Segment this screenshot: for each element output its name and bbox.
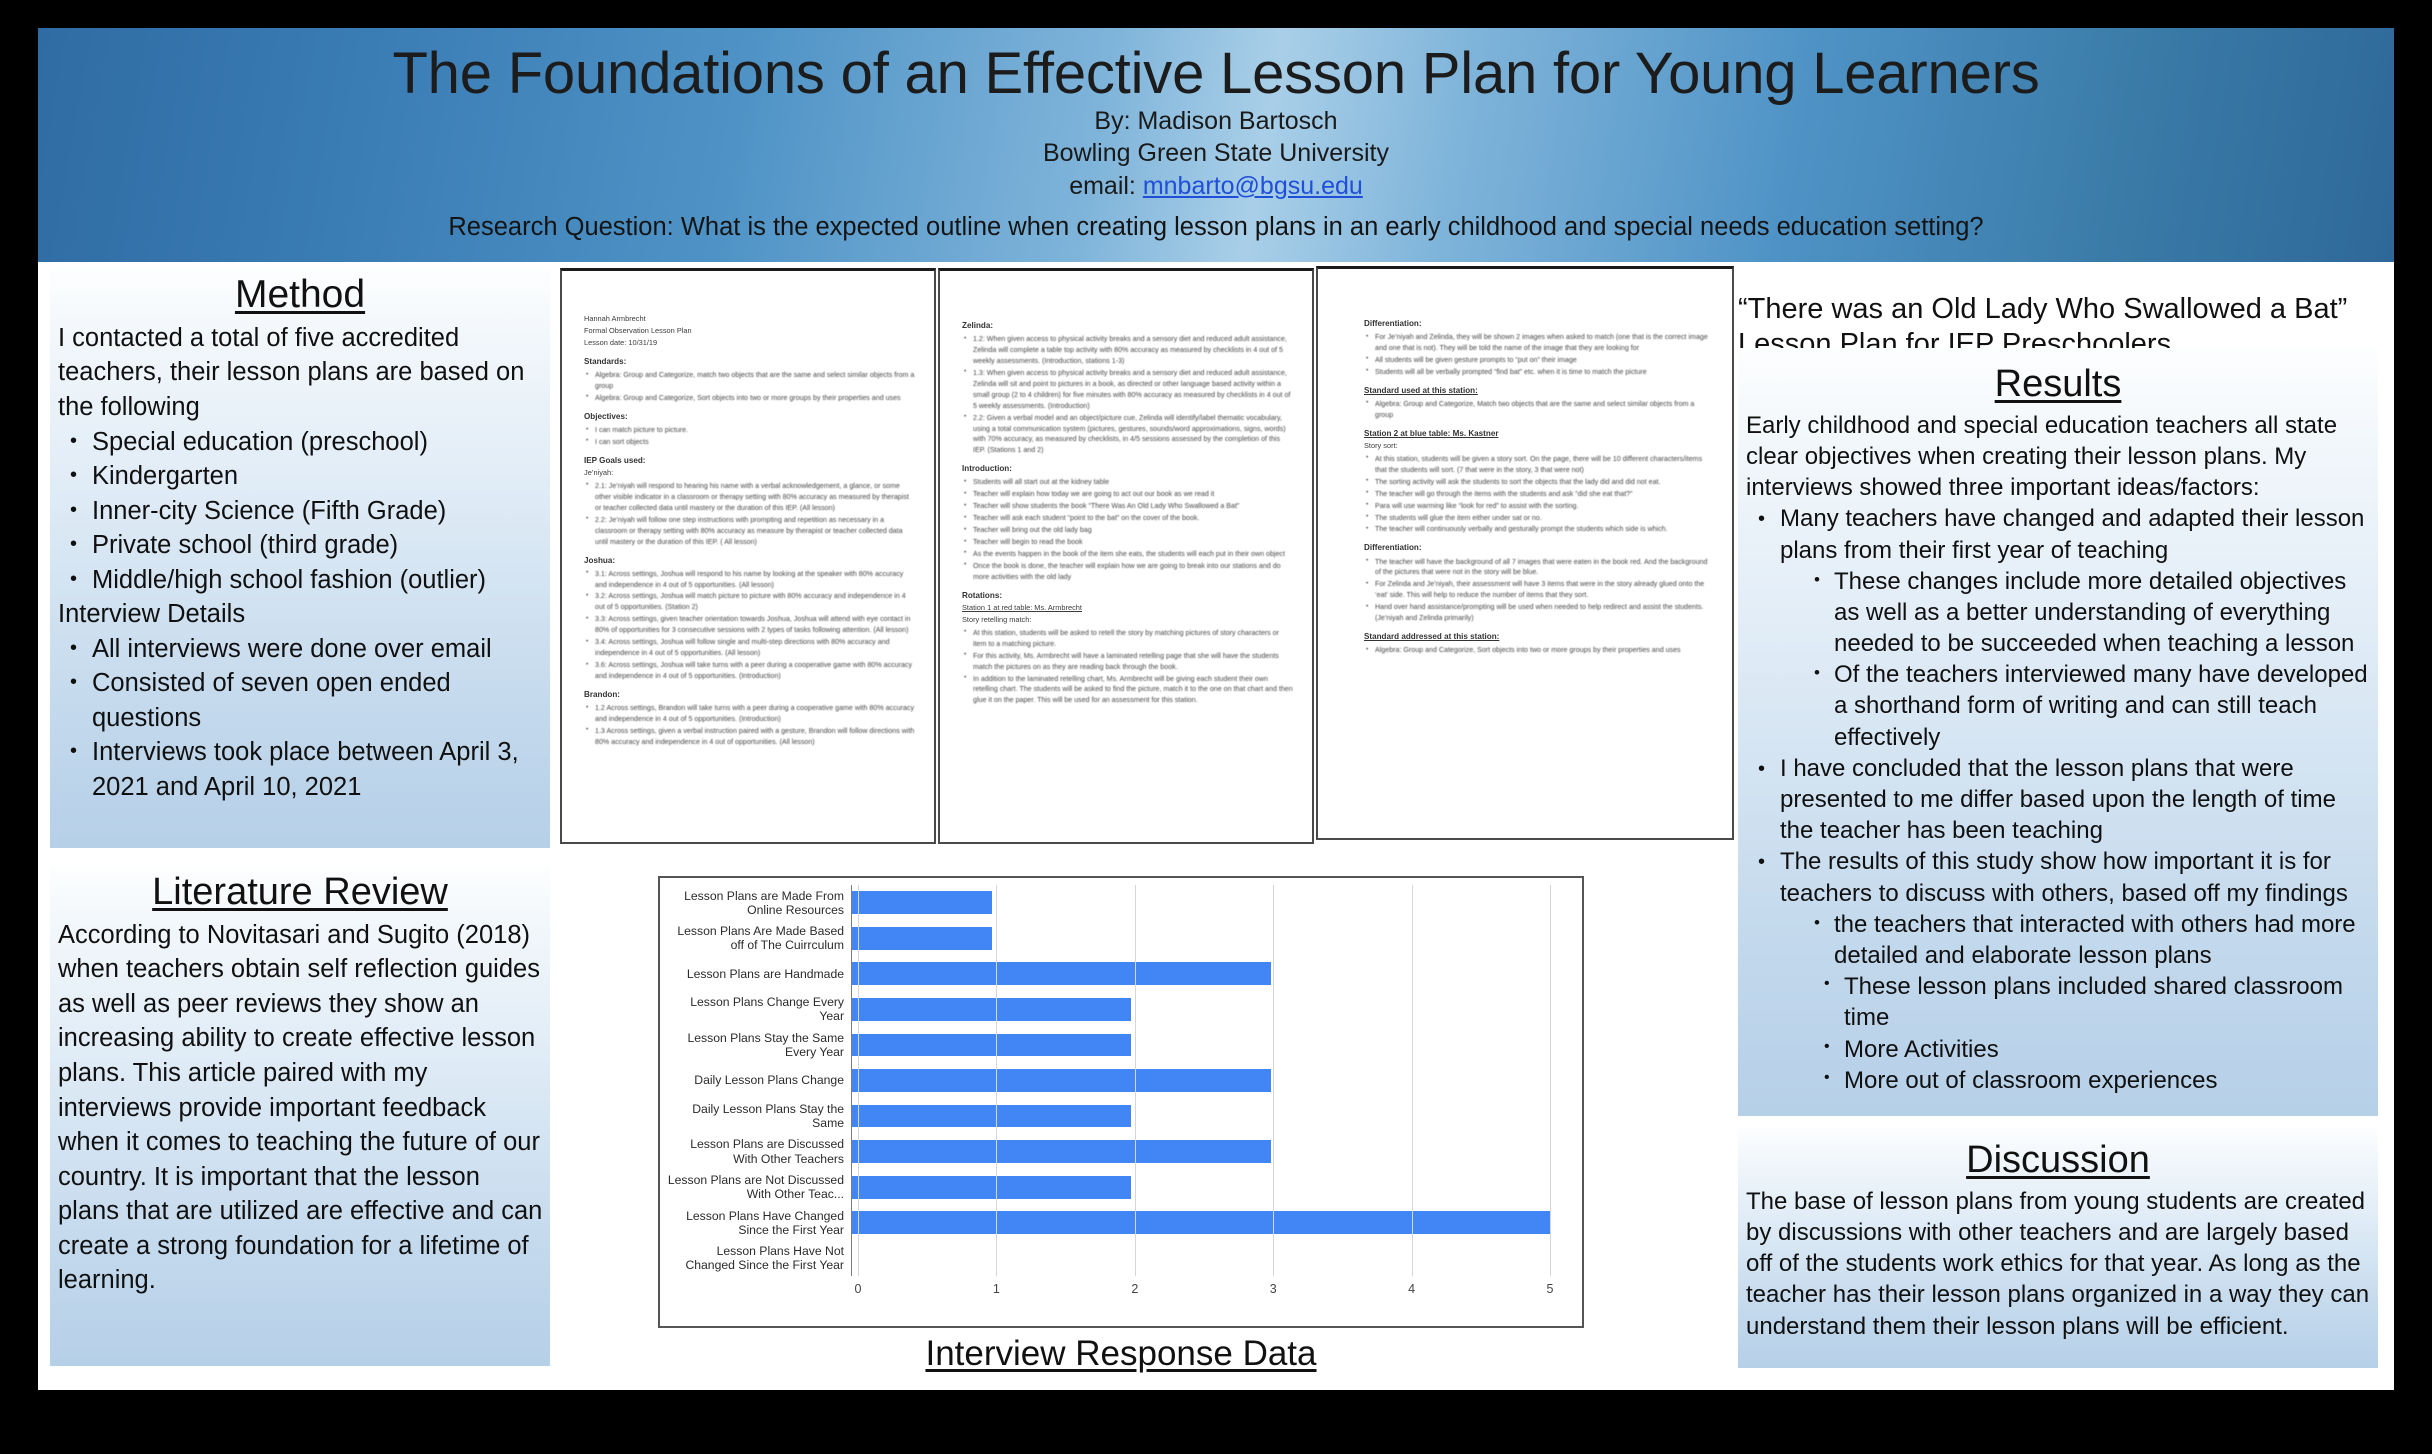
list-item: More out of classroom experiences bbox=[1816, 1065, 2372, 1096]
document-section-heading: Standards: bbox=[584, 356, 916, 368]
list-item: 1.3 Across settings, given a verbal inst… bbox=[584, 726, 916, 748]
poster-header: The Foundations of an Effective Lesson P… bbox=[38, 28, 2394, 262]
chart-row: Lesson Plans Change Every Year bbox=[667, 992, 1550, 1028]
list-item: Special education (preschool) bbox=[58, 425, 544, 460]
chart-category-label: Lesson Plans Change Every Year bbox=[667, 995, 851, 1023]
chart-row: Lesson Plans Have Changed Since the Firs… bbox=[667, 1205, 1550, 1241]
list-item: 2.2: Given a verbal model and an object/… bbox=[962, 413, 1294, 457]
document-list: 3.1: Across settings, Joshua will respon… bbox=[584, 569, 916, 682]
list-item: Algebra: Group and Categorize, match two… bbox=[584, 370, 916, 392]
method-teacher-list: Special education (preschool) Kindergart… bbox=[50, 425, 550, 598]
list-item: Algebra: Group and Categorize, Sort obje… bbox=[584, 393, 916, 404]
list-item: For Je’niyah and Zelinda, they will be s… bbox=[1364, 332, 1714, 354]
affiliation-line: Bowling Green State University bbox=[38, 137, 2394, 169]
list-item: 3.2: Across settings, Joshua will match … bbox=[584, 591, 916, 613]
document-section-heading: Station 2 at blue table: Ms. Kastner bbox=[1364, 428, 1714, 440]
method-intro: I contacted a total of five accredited t… bbox=[50, 321, 550, 425]
chart-category-label: Daily Lesson Plans Change bbox=[667, 1073, 851, 1087]
document-list: The teacher will have the background of … bbox=[1364, 557, 1714, 625]
list-item: 1.3: When given access to physical activ… bbox=[962, 368, 1294, 412]
document-subheading: Je’niyah: bbox=[584, 467, 916, 479]
list-item: Consisted of seven open ended questions bbox=[58, 666, 544, 735]
results-sublist: the teachers that interacted with others… bbox=[1796, 909, 2378, 971]
chart-category-label: Lesson Plans are Made From Online Resour… bbox=[667, 889, 851, 917]
lesson-plan-document-1[interactable]: Hannah Armbrecht Formal Observation Less… bbox=[560, 268, 936, 844]
chart-bar-track bbox=[851, 956, 1550, 992]
document-list: 2.1: Je’niyah will respond to hearing hi… bbox=[584, 481, 916, 548]
results-intro: Early childhood and special education te… bbox=[1738, 410, 2378, 504]
chart-bar-track bbox=[851, 1098, 1550, 1134]
list-item: For this activity, Ms. Armbrecht will ha… bbox=[962, 651, 1294, 673]
list-item: All interviews were done over email bbox=[58, 632, 544, 667]
list-item: Teacher will explain how today we are go… bbox=[962, 489, 1294, 500]
document-section-heading: Differentiation: bbox=[1364, 542, 1714, 554]
literature-review-section: Literature Review According to Novitasar… bbox=[50, 866, 550, 1366]
list-item: All students will be given gesture promp… bbox=[1364, 355, 1714, 366]
method-title: Method bbox=[50, 268, 550, 321]
results-section: Results Early childhood and special educ… bbox=[1738, 348, 2378, 1116]
chart-category-label: Lesson Plans Have Not Changed Since the … bbox=[667, 1244, 851, 1272]
chart-x-tick-label: 5 bbox=[1547, 1282, 1554, 1296]
document-section-heading: Standard addressed at this station: bbox=[1364, 631, 1714, 643]
list-item: I can sort objects bbox=[584, 437, 916, 448]
results-subsublist: These lesson plans included shared class… bbox=[1808, 971, 2378, 1096]
chart-bar-track bbox=[851, 992, 1550, 1028]
list-item: 1.2: When given access to physical activ… bbox=[962, 334, 1294, 367]
research-question: Research Question: What is the expected … bbox=[38, 213, 2394, 242]
list-item: The students will glue the item either u… bbox=[1364, 513, 1714, 524]
discussion-body: The base of lesson plans from young stud… bbox=[1738, 1186, 2378, 1342]
list-item: For Zelinda and Je’niyah, their assessme… bbox=[1364, 579, 1714, 601]
interview-details-heading: Interview Details bbox=[50, 597, 550, 632]
results-title: Results bbox=[1738, 348, 2378, 410]
list-item: In addition to the laminated retelling c… bbox=[962, 674, 1294, 707]
chart-bar bbox=[852, 1034, 1131, 1057]
chart-x-tick-label: 2 bbox=[1131, 1282, 1138, 1296]
list-item: The teacher will continuously verbally a… bbox=[1364, 524, 1714, 535]
list-item: More Activities bbox=[1816, 1034, 2372, 1065]
document-list: I can match picture to picture. I can so… bbox=[584, 425, 916, 448]
literature-review-body: According to Novitasari and Sugito (2018… bbox=[50, 918, 550, 1298]
chart-x-axis: 012345 bbox=[858, 1282, 1550, 1304]
list-item: Teacher will begin to read the book bbox=[962, 537, 1294, 548]
chart-bar bbox=[852, 962, 1271, 985]
chart-row: Lesson Plans Are Made Based off of The C… bbox=[667, 921, 1550, 957]
list-item: At this station, students will be given … bbox=[1364, 454, 1714, 476]
document-list: 1.2: When given access to physical activ… bbox=[962, 334, 1294, 456]
method-section: Method I contacted a total of five accre… bbox=[50, 268, 550, 848]
list-item: Students will all be verbally prompted “… bbox=[1364, 367, 1714, 378]
chart-bar-track bbox=[851, 1027, 1550, 1063]
email-line: email: mnbarto@bgsu.edu bbox=[38, 170, 2394, 202]
list-item: Teacher will show students the book “The… bbox=[962, 501, 1294, 512]
list-item: 3.4: Across settings, Joshua will follow… bbox=[584, 637, 916, 659]
chart-bar bbox=[852, 998, 1131, 1021]
method-interview-list: All interviews were done over email Cons… bbox=[50, 632, 550, 805]
list-item: 3.6: Across settings, Joshua will take t… bbox=[584, 660, 916, 682]
list-item: The results of this study show how impor… bbox=[1746, 846, 2372, 908]
list-item: As the events happen in the book of the … bbox=[962, 549, 1294, 560]
chart-row: Lesson Plans are Not Discussed With Othe… bbox=[667, 1169, 1550, 1205]
document-section-heading: Standard used at this station: bbox=[1364, 385, 1714, 397]
list-item: Many teachers have changed and adapted t… bbox=[1746, 503, 2372, 565]
results-sublist: These changes include more detailed obje… bbox=[1796, 566, 2378, 753]
document-section-heading: IEP Goals used: bbox=[584, 455, 916, 467]
list-item: The sorting activity will ask the studen… bbox=[1364, 477, 1714, 488]
list-item: Algebra: Group and Categorize, Sort obje… bbox=[1364, 645, 1714, 656]
chart-bar bbox=[852, 1176, 1131, 1199]
document-section-heading: Differentiation: bbox=[1364, 318, 1714, 330]
list-item: Algebra: Group and Categorize, Match two… bbox=[1364, 399, 1714, 421]
chart-bar bbox=[852, 1069, 1271, 1092]
list-item: The teacher will go through the items wi… bbox=[1364, 489, 1714, 500]
lesson-plan-document-3[interactable]: Differentiation: For Je’niyah and Zelind… bbox=[1316, 266, 1734, 840]
list-item: Students will all start out at the kidne… bbox=[962, 477, 1294, 488]
list-item: Once the book is done, the teacher will … bbox=[962, 561, 1294, 583]
list-item: 2.1: Je’niyah will respond to hearing hi… bbox=[584, 481, 916, 514]
document-subheading: Story retelling match: bbox=[962, 614, 1294, 626]
chart-bar bbox=[852, 891, 992, 914]
literature-review-title: Literature Review bbox=[50, 866, 550, 918]
document-list: Algebra: Group and Categorize, match two… bbox=[584, 370, 916, 404]
chart-row: Daily Lesson Plans Stay the Same bbox=[667, 1098, 1550, 1134]
list-item: The teacher will have the background of … bbox=[1364, 557, 1714, 579]
list-item: Inner-city Science (Fifth Grade) bbox=[58, 494, 544, 529]
document-list: Students will all start out at the kidne… bbox=[962, 477, 1294, 582]
list-item: 1.2 Across settings, Brandon will take t… bbox=[584, 703, 916, 725]
chart-bar-track bbox=[851, 885, 1550, 921]
list-item: Kindergarten bbox=[58, 459, 544, 494]
chart-category-label: Lesson Plans are Handmade bbox=[667, 967, 851, 981]
document-list: 1.2 Across settings, Brandon will take t… bbox=[584, 703, 916, 748]
chart-row: Lesson Plans Have Not Changed Since the … bbox=[667, 1240, 1550, 1276]
poster-slide: The Foundations of an Effective Lesson P… bbox=[38, 28, 2394, 1390]
document-section-heading: Joshua: bbox=[584, 555, 916, 567]
chart-bar-rows: Lesson Plans are Made From Online Resour… bbox=[667, 885, 1550, 1276]
chart-category-label: Lesson Plans Stay the Same Every Year bbox=[667, 1031, 851, 1059]
document-section-heading: Introduction: bbox=[962, 463, 1294, 475]
document-list: Algebra: Group and Categorize, Match two… bbox=[1364, 399, 1714, 421]
chart-category-label: Lesson Plans are Discussed With Other Te… bbox=[667, 1137, 851, 1165]
chart-x-tick-label: 3 bbox=[1270, 1282, 1277, 1296]
chart-x-tick-label: 0 bbox=[855, 1282, 862, 1296]
document-list: For Je’niyah and Zelinda, they will be s… bbox=[1364, 332, 1714, 378]
document-list: At this station, students will be given … bbox=[1364, 454, 1714, 535]
chart-bar bbox=[852, 1105, 1131, 1128]
chart-row: Daily Lesson Plans Change bbox=[667, 1063, 1550, 1099]
document-list: Algebra: Group and Categorize, Sort obje… bbox=[1364, 645, 1714, 656]
results-list: I have concluded that the lesson plans t… bbox=[1738, 753, 2378, 909]
list-item: 2.2: Je’niyah will follow one step instr… bbox=[584, 515, 916, 548]
list-item: I have concluded that the lesson plans t… bbox=[1746, 753, 2372, 847]
chart-x-tick-label: 1 bbox=[993, 1282, 1000, 1296]
chart-row: Lesson Plans are Made From Online Resour… bbox=[667, 885, 1550, 921]
document-section-heading: Rotations: bbox=[962, 590, 1294, 602]
list-item: Teacher will ask each student “point to … bbox=[962, 513, 1294, 524]
list-item: the teachers that interacted with others… bbox=[1804, 909, 2372, 971]
document-subheading: Station 1 at red table: Ms. Armbrecht bbox=[962, 602, 1294, 614]
chart-category-label: Lesson Plans Have Changed Since the Firs… bbox=[667, 1209, 851, 1237]
chart-bar-track bbox=[851, 1205, 1550, 1241]
chart-caption: Interview Response Data bbox=[658, 1334, 1584, 1374]
list-item: 3.1: Across settings, Joshua will respon… bbox=[584, 569, 916, 591]
document-list: At this station, students will be asked … bbox=[962, 628, 1294, 706]
list-item: These changes include more detailed obje… bbox=[1804, 566, 2372, 660]
list-item: 3.3: Across settings, given teacher orie… bbox=[584, 614, 916, 636]
chart-bar-track bbox=[851, 1134, 1550, 1170]
chart-bar bbox=[852, 927, 992, 950]
chart-gridline bbox=[1550, 885, 1551, 1276]
chart-bar-track bbox=[851, 1240, 1550, 1276]
chart-category-label: Lesson Plans are Not Discussed With Othe… bbox=[667, 1173, 851, 1201]
list-item: Private school (third grade) bbox=[58, 528, 544, 563]
email-label: email: bbox=[1069, 172, 1136, 200]
chart-row: Lesson Plans Stay the Same Every Year bbox=[667, 1027, 1550, 1063]
lesson-plan-document-2[interactable]: Zelinda: 1.2: When given access to physi… bbox=[938, 268, 1314, 844]
chart-bar bbox=[852, 1140, 1271, 1163]
list-item: Middle/high school fashion (outlier) bbox=[58, 563, 544, 598]
interview-response-chart[interactable]: Lesson Plans are Made From Online Resour… bbox=[658, 876, 1584, 1328]
list-item: At this station, students will be asked … bbox=[962, 628, 1294, 650]
document-section-heading: Brandon: bbox=[584, 689, 916, 701]
document-section-heading: Objectives: bbox=[584, 411, 916, 423]
author-line: By: Madison Bartosch bbox=[38, 105, 2394, 137]
list-item: Hand over hand assistance/prompting will… bbox=[1364, 602, 1714, 624]
chart-row: Lesson Plans are Handmade bbox=[667, 956, 1550, 992]
document-subheading: Story sort: bbox=[1364, 440, 1714, 452]
discussion-title: Discussion bbox=[1738, 1128, 2378, 1186]
results-list: Many teachers have changed and adapted t… bbox=[1738, 503, 2378, 565]
document-section-heading: Zelinda: bbox=[962, 320, 1294, 332]
chart-row: Lesson Plans are Discussed With Other Te… bbox=[667, 1134, 1550, 1170]
chart-category-label: Daily Lesson Plans Stay the Same bbox=[667, 1102, 851, 1130]
chart-x-tick-label: 4 bbox=[1408, 1282, 1415, 1296]
chart-bar bbox=[852, 1211, 1550, 1234]
discussion-section: Discussion The base of lesson plans from… bbox=[1738, 1128, 2378, 1368]
list-item: Para will use warming like “look for red… bbox=[1364, 501, 1714, 512]
list-item: I can match picture to picture. bbox=[584, 425, 916, 436]
chart-bar-track bbox=[851, 1063, 1550, 1099]
list-item: Of the teachers interviewed many have de… bbox=[1804, 659, 2372, 753]
list-item: Interviews took place between April 3, 2… bbox=[58, 735, 544, 804]
document-header-line: Hannah Armbrecht bbox=[584, 313, 916, 325]
page-title: The Foundations of an Effective Lesson P… bbox=[38, 28, 2394, 105]
list-item: Teacher will bring out the old lady bag bbox=[962, 525, 1294, 536]
chart-bar-track bbox=[851, 1169, 1550, 1205]
chart-category-label: Lesson Plans Are Made Based off of The C… bbox=[667, 924, 851, 952]
document-header-line: Formal Observation Lesson Plan bbox=[584, 325, 916, 337]
chart-bar-track bbox=[851, 921, 1550, 957]
email-link[interactable]: mnbarto@bgsu.edu bbox=[1143, 172, 1363, 200]
list-item: These lesson plans included shared class… bbox=[1816, 971, 2372, 1033]
document-header-line: Lesson date: 10/31/19 bbox=[584, 337, 916, 349]
